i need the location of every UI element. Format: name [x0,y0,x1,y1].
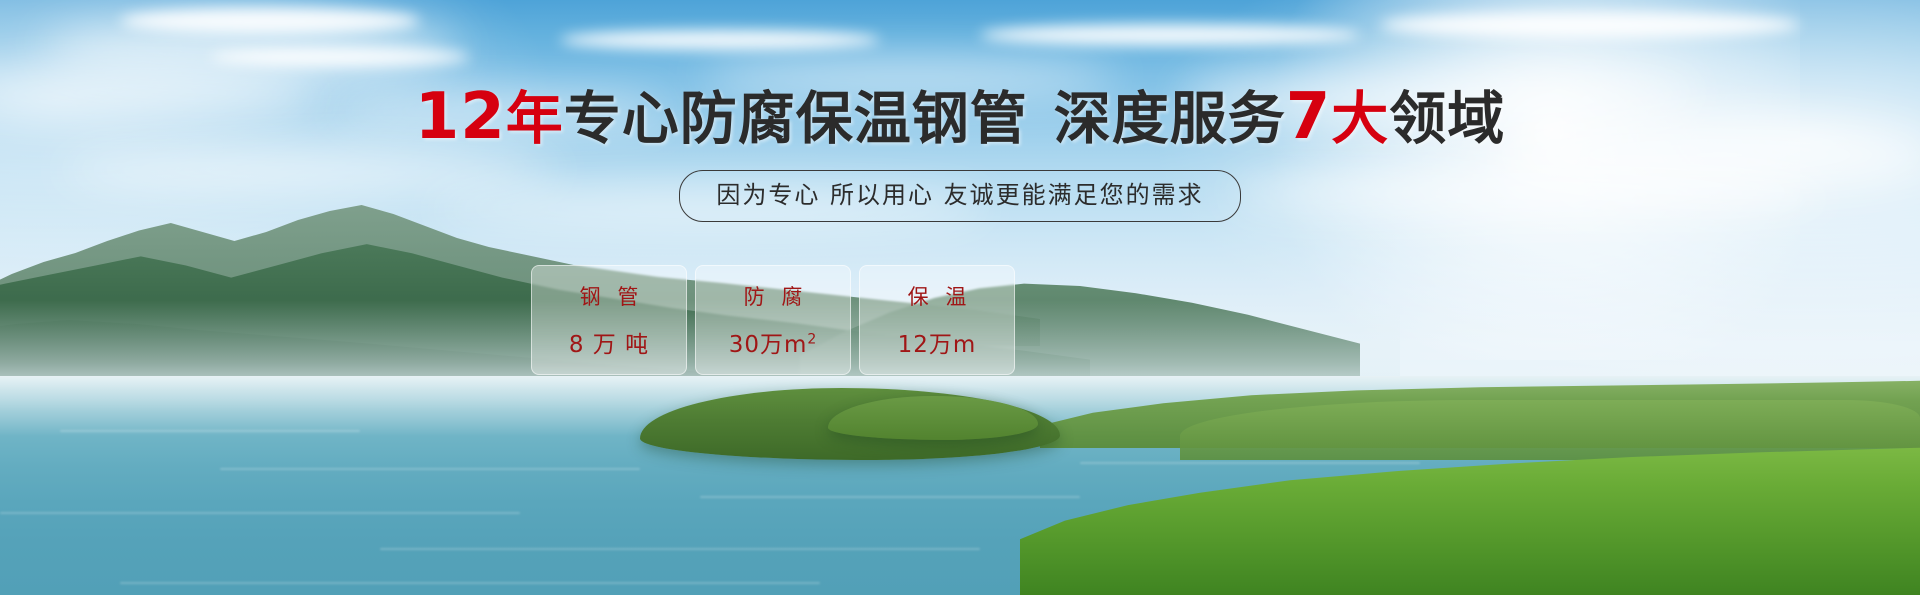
stat-card-value-text: 12万m [898,332,977,358]
stat-card-value-text: 8 万 吨 [569,332,649,358]
stat-card-insulation[interactable]: 保 温 12万m [859,265,1015,375]
cloud-shape [1380,12,1800,38]
water-ripple [60,430,360,432]
page-title: 12年专心防腐保温钢管深度服务7大领域 [0,84,1920,152]
stat-card-value: 12万m [898,325,977,359]
headline-main-text: 专心防腐保温钢管 [564,86,1028,152]
cloud-shape [980,24,1360,46]
stat-card-label: 防 腐 [739,281,808,311]
subtitle-container: 因为专心 所以用心 友诚更能满足您的需求 [0,170,1920,222]
water-ripple [0,512,520,514]
headline-years-unit: 年 [506,86,564,152]
headline-fields-text: 领域 [1389,86,1505,152]
subtitle-pill: 因为专心 所以用心 友诚更能满足您的需求 [679,170,1240,222]
stat-card-label: 钢 管 [575,281,644,311]
stat-card-value: 8 万 吨 [569,325,649,359]
water-ripple [1080,462,1420,464]
headline-fields-unit: 大 [1331,86,1389,152]
stat-card-label: 保 温 [903,281,972,311]
water-ripple [700,496,1080,498]
hero-banner: 12年专心防腐保温钢管深度服务7大领域 因为专心 所以用心 友诚更能满足您的需求… [0,0,1920,595]
stat-card-anticorrosion[interactable]: 防 腐 30万m2 [695,265,851,375]
headline-years-number: 12 [415,80,506,154]
cloud-shape [560,30,880,50]
stat-card-value: 30万m2 [729,325,818,359]
cloud-shape [120,8,420,34]
grass-bottom-edge [0,543,1920,595]
stat-card-steel-pipe[interactable]: 钢 管 8 万 吨 [531,265,687,375]
headline-service-text: 深度服务 [1054,86,1286,152]
stat-card-value-text: 30万m [729,332,808,358]
stat-card-value-sup: 2 [807,331,817,347]
cloud-shape [210,48,470,66]
headline-fields-number: 7 [1286,80,1332,154]
stat-card-group: 钢 管 8 万 吨 防 腐 30万m2 保 温 12万m [531,265,1015,375]
water-ripple [220,468,640,470]
